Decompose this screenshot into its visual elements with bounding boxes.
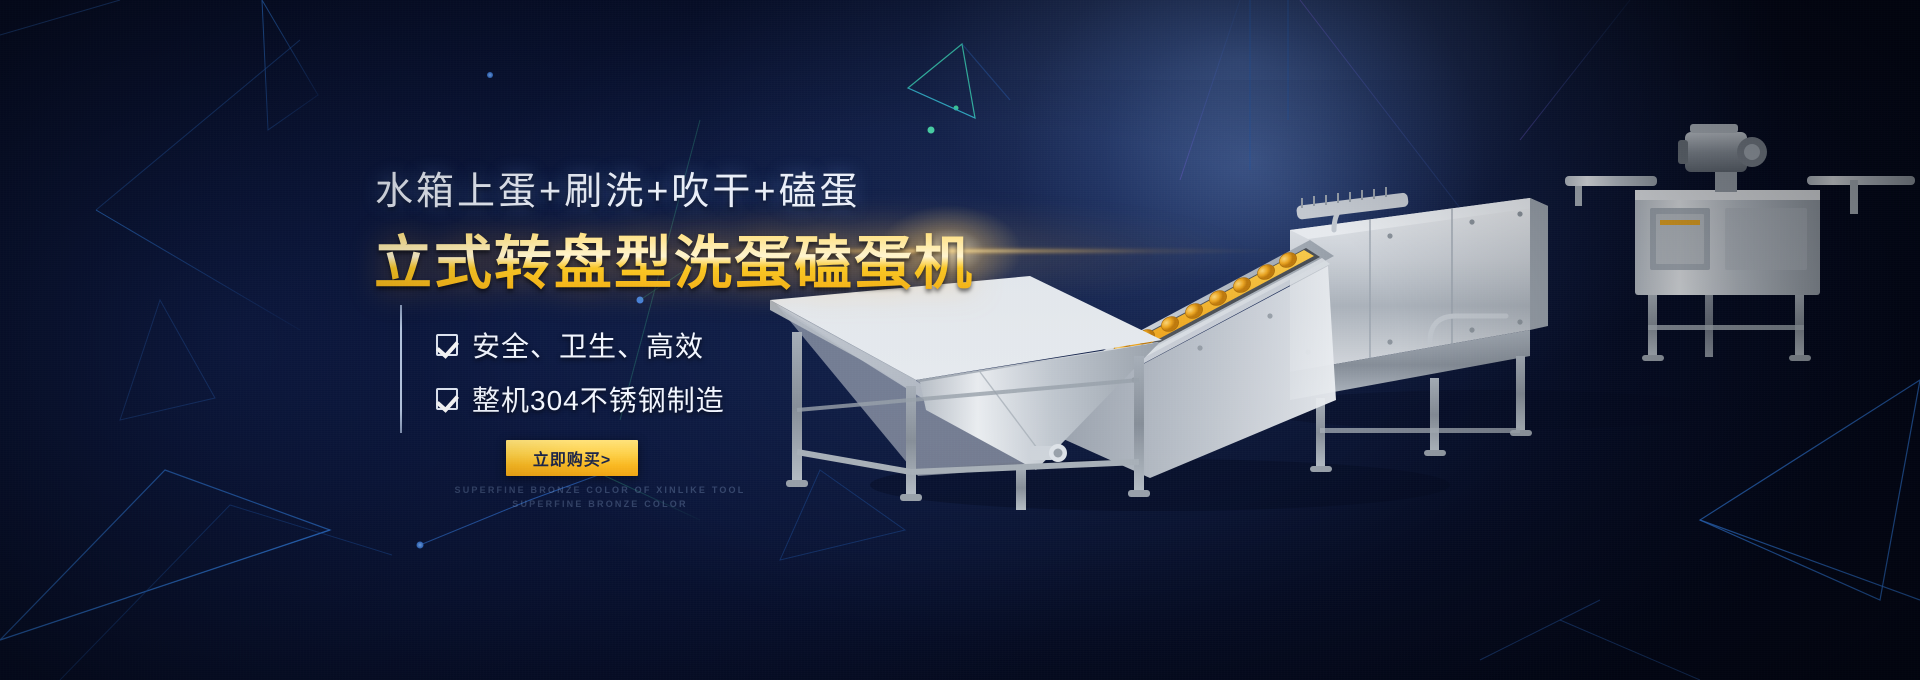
feature-label: 安全、卫生、高效 <box>472 325 704 365</box>
feature-item: 安全、卫生、高效 <box>436 325 700 365</box>
decorative-wordmark: SUPERFINE BRONZE COLOR OF XINLIKE TOOL S… <box>440 483 760 511</box>
feature-list: 安全、卫生、高效 整机304不锈钢制造 <box>400 305 700 433</box>
buy-now-button[interactable]: 立即购买> <box>506 440 638 476</box>
checkbox-checked-icon <box>436 388 458 410</box>
wordmark-line-2: SUPERFINE BRONZE COLOR <box>440 497 760 511</box>
wordmark-line-1: SUPERFINE BRONZE COLOR OF XINLIKE TOOL <box>440 483 760 497</box>
hero-subtitle: 水箱上蛋+刷洗+吹干+磕蛋 <box>375 160 861 215</box>
hero-content: 水箱上蛋+刷洗+吹干+磕蛋 立式转盘型洗蛋磕蛋机 安全、卫生、高效 整机304不… <box>0 0 1000 680</box>
promo-banner: 水箱上蛋+刷洗+吹干+磕蛋 立式转盘型洗蛋磕蛋机 安全、卫生、高效 整机304不… <box>0 0 1920 680</box>
feature-item: 整机304不锈钢制造 <box>436 379 700 419</box>
checkbox-checked-icon <box>436 334 458 356</box>
feature-label: 整机304不锈钢制造 <box>472 379 725 419</box>
hero-title: 立式转盘型洗蛋磕蛋机 <box>374 216 974 300</box>
